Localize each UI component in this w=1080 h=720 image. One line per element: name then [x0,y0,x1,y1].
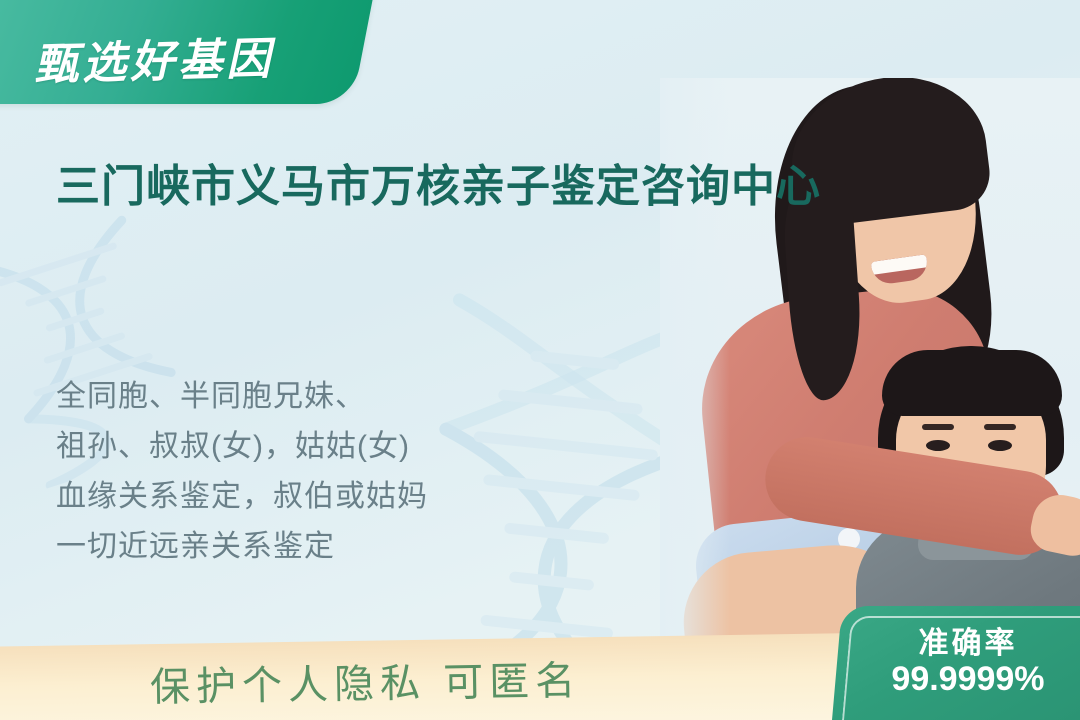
accuracy-value: 99.9999% [891,660,1044,698]
badge-content: 准确率 99.9999% [837,606,1080,720]
description-line-1: 全同胞、半同胞兄妹、 [56,372,616,422]
boy-eye-left [926,440,950,451]
logo-wordmark: 甄选好基因 [33,20,325,94]
page-title: 三门峡市义马市万核亲子鉴定咨询中心 [56,158,856,215]
logo-text: 甄选好基因 [33,23,275,93]
boy-hair-fringe [882,350,1062,416]
promo-poster: 甄选好基因 三门峡市义马市万核亲子鉴定咨询中心 全同胞、半同胞兄妹、 祖孙、叔叔… [0,0,1080,720]
description-line-2: 祖孙、叔叔(女)，姑姑(女) [56,422,616,472]
boy-eyebrow-right [984,424,1016,430]
description-line-4: 一切近远亲关系鉴定 [56,522,616,572]
description-line-3: 血缘关系鉴定，叔伯或姑妈 [56,472,616,522]
privacy-bar-text: 保护个人隐私 可匿名 [150,645,771,713]
boy-eyebrow-left [922,424,954,430]
boy-eye-right [988,440,1012,451]
accuracy-badge: 准确率 99.9999% [832,606,1080,720]
accuracy-label: 准确率 [918,628,1017,660]
service-description: 全同胞、半同胞兄妹、 祖孙、叔叔(女)，姑姑(女) 血缘关系鉴定，叔伯或姑妈 一… [56,372,616,572]
